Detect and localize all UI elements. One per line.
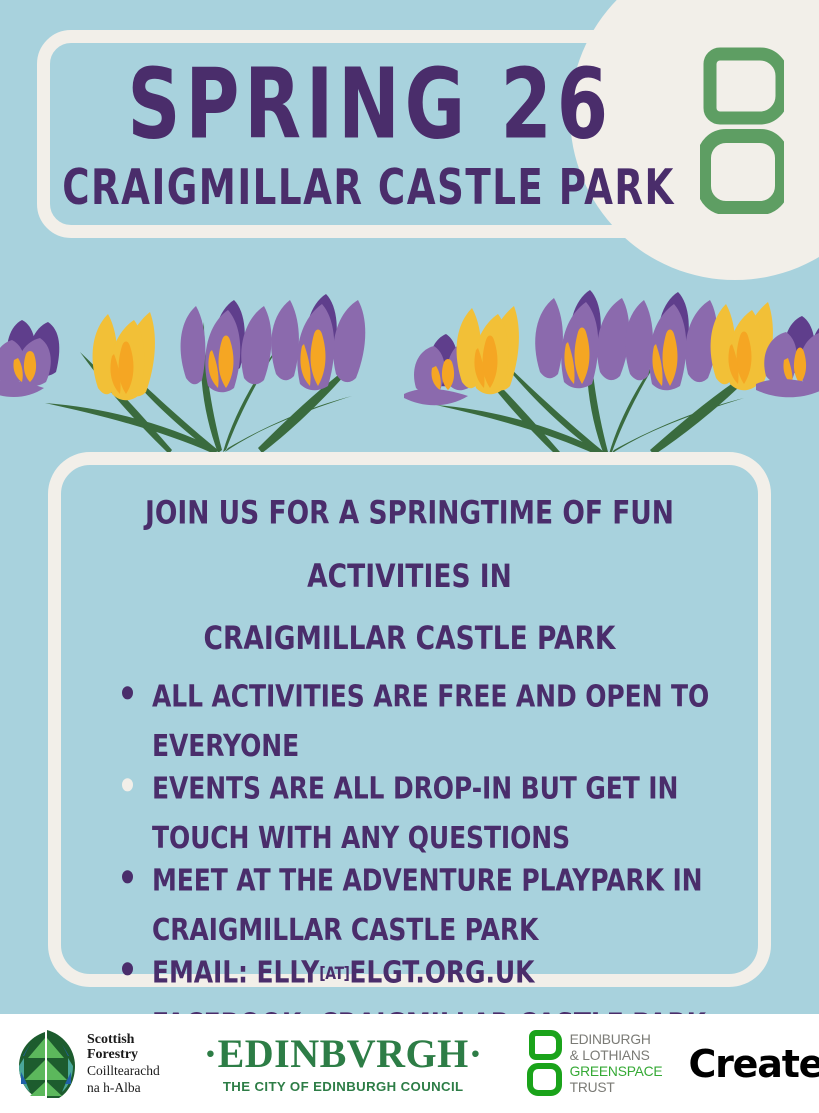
crocus-gold-right bbox=[711, 302, 773, 390]
crocus-gold-rightinner bbox=[457, 306, 519, 394]
logo-greenspace-trust: EDINBURGH & LOTHIANS GREENSPACE TRUST bbox=[527, 1028, 663, 1100]
poster-root: SPRING 26 CRAIGMILLAR CASTLE PARK bbox=[0, 0, 819, 1113]
bullet-dot-icon bbox=[122, 778, 133, 791]
email-at-token: [AT] bbox=[319, 965, 349, 984]
info-bullet-list: ALL ACTIVITIES ARE FREE AND OPEN TO EVER… bbox=[76, 673, 743, 1041]
greenspace-trust-leaf-icon bbox=[527, 1028, 563, 1100]
lead-paragraph: JOIN US FOR A SPRINGTIME OF FUN ACTIVITI… bbox=[76, 482, 743, 671]
email-suffix: ELGT.ORG.UK bbox=[349, 955, 534, 990]
email-prefix: EMAIL: ELLY bbox=[152, 955, 319, 990]
content-panel: JOIN US FOR A SPRINGTIME OF FUN ACTIVITI… bbox=[48, 452, 771, 987]
greenspace-leaf-logo-icon bbox=[700, 42, 784, 214]
gt-line-1: EDINBURGH bbox=[570, 1032, 663, 1048]
crocus-gold-left bbox=[93, 312, 155, 400]
edinburgh-subtitle: THE CITY OF EDINBURGH COUNCIL bbox=[204, 1079, 483, 1094]
page-subtitle: CRAIGMILLAR CASTLE PARK bbox=[59, 162, 676, 211]
list-item-email: EMAIL: ELLY[AT]ELGT.ORG.UK bbox=[122, 949, 743, 998]
gt-line-2: & LOTHIANS bbox=[570, 1048, 663, 1064]
flower-cluster-left bbox=[0, 294, 365, 454]
crocus-purple-rightmid bbox=[535, 298, 629, 388]
bullet-dot-icon bbox=[122, 686, 133, 699]
logo-scottish-forestry: Scottish Forestry Coilltearachd na h-Alb… bbox=[14, 1028, 160, 1100]
scottish-forestry-wordmark: Scottish Forestry Coilltearachd na h-Alb… bbox=[87, 1032, 160, 1095]
crocus-purple-left bbox=[0, 320, 59, 397]
list-item-label: ALL ACTIVITIES ARE FREE AND OPEN TO EVER… bbox=[152, 679, 709, 762]
header-panel: SPRING 26 CRAIGMILLAR CASTLE PARK bbox=[37, 30, 697, 238]
gt-line-3: GREENSPACE bbox=[570, 1064, 663, 1080]
list-item: EVENTS ARE ALL DROP-IN BUT GET IN TOUCH … bbox=[122, 765, 743, 862]
flower-cluster-right bbox=[404, 290, 819, 456]
list-item-label: MEET AT THE ADVENTURE PLAYPARK IN CRAIGM… bbox=[152, 863, 703, 946]
sf-line-3: Coilltearachd bbox=[87, 1064, 160, 1079]
lead-line-2: CRAIGMILLAR CASTLE PARK bbox=[76, 608, 743, 671]
crocus-purple-right bbox=[625, 300, 717, 390]
list-item: ALL ACTIVITIES ARE FREE AND OPEN TO EVER… bbox=[122, 673, 743, 770]
crocus-flowers-illustration bbox=[0, 248, 819, 460]
greenspace-trust-wordmark: EDINBURGH & LOTHIANS GREENSPACE TRUST bbox=[570, 1032, 663, 1096]
page-title: SPRING 26 bbox=[121, 55, 612, 152]
scottish-forestry-tree-icon bbox=[14, 1028, 78, 1100]
footer-logo-bar: Scottish Forestry Coilltearachd na h-Alb… bbox=[0, 1014, 819, 1113]
logo-city-of-edinburgh-council: ·EDINBVRGH· THE CITY OF EDINBURGH COUNCI… bbox=[204, 1034, 483, 1094]
bullet-dot-icon bbox=[122, 870, 133, 883]
lead-line-1: JOIN US FOR A SPRINGTIME OF FUN ACTIVITI… bbox=[76, 482, 743, 608]
gt-line-4: TRUST bbox=[570, 1080, 663, 1096]
sf-line-4: na h-Alba bbox=[87, 1081, 160, 1096]
sf-line-2: Forestry bbox=[87, 1047, 160, 1062]
bullet-dot-icon bbox=[122, 962, 133, 975]
logo-create: Create bbox=[688, 1045, 819, 1083]
edinburgh-wordmark: ·EDINBVRGH· bbox=[204, 1034, 483, 1074]
create-wordmark: Create bbox=[688, 1045, 819, 1083]
sf-line-1: Scottish bbox=[87, 1032, 160, 1047]
list-item-label: EVENTS ARE ALL DROP-IN BUT GET IN TOUCH … bbox=[152, 771, 678, 854]
crocus-purple-mid bbox=[271, 300, 365, 390]
crocus-purple-midleft bbox=[181, 306, 272, 392]
list-item: MEET AT THE ADVENTURE PLAYPARK IN CRAIGM… bbox=[122, 857, 743, 954]
